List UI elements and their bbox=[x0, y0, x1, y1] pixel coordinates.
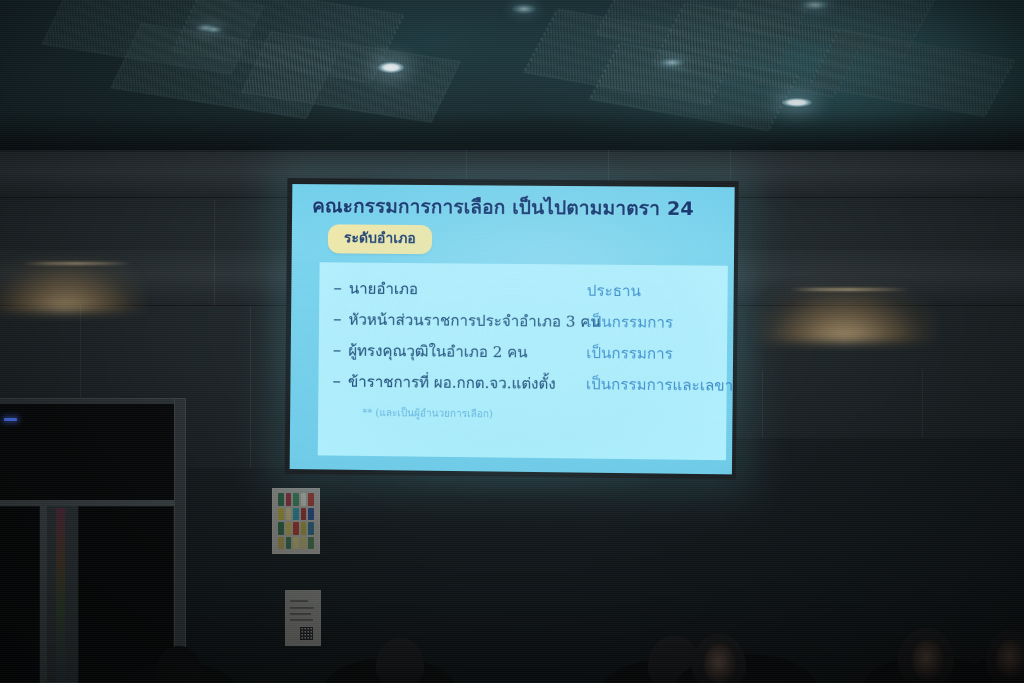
exit-door-leaf-left bbox=[0, 506, 40, 683]
wall-wash-glow-right bbox=[756, 284, 936, 342]
ceiling-downlight-icon bbox=[378, 62, 404, 73]
slide-row: – ข้าราชการที่ ผอ.กกต.จว.แต่งตั้ง เป็นกร… bbox=[332, 373, 718, 408]
wall-poster bbox=[272, 488, 320, 554]
exit-door-jamb bbox=[174, 398, 186, 683]
projection-screen-surface: คณะกรรมการการเลือก เป็นไปตามมาตรา 24 ระด… bbox=[290, 184, 735, 474]
audience-member-face bbox=[912, 640, 944, 680]
slide-title: คณะกรรมการการเลือก เป็นไปตามมาตรา 24 bbox=[312, 191, 724, 224]
slide-row-left: – ผู้ทรงคุณวุฒิในอำเภอ 2 คน bbox=[333, 342, 587, 362]
slide-level-badge: ระดับอำเภอ bbox=[328, 224, 432, 254]
ceiling-downlight-icon bbox=[660, 58, 684, 67]
sign-text-line bbox=[290, 600, 308, 602]
projection-screen: คณะกรรมการการเลือก เป็นไปตามมาตรา 24 ระด… bbox=[285, 178, 739, 479]
exit-door-transom-glass bbox=[0, 404, 174, 500]
poster-column bbox=[293, 493, 299, 549]
slide-row-left: – นายอำเภอ bbox=[333, 280, 587, 299]
poster-column bbox=[278, 493, 284, 549]
audience-member-face bbox=[996, 640, 1024, 678]
slide-row: – นายอำเภอ ประธาน bbox=[333, 280, 719, 315]
poster-column bbox=[301, 493, 307, 549]
wall-panel-seam bbox=[214, 200, 215, 306]
slide-row-role: เป็นกรรมการและเลขาฯ bbox=[586, 377, 735, 394]
presentation-slide: คณะกรรมการการเลือก เป็นไปตามมาตรา 24 ระด… bbox=[290, 184, 735, 474]
exit-indicator-led-icon bbox=[4, 418, 17, 421]
slide-row-role: เป็นกรรมการ bbox=[586, 315, 673, 331]
sign-qr-code-icon bbox=[300, 627, 313, 640]
bullet-dash-icon: – bbox=[332, 373, 341, 390]
wall-panel-seam bbox=[250, 306, 251, 486]
door-poster-strip bbox=[56, 508, 65, 680]
sign-text-line bbox=[290, 613, 311, 615]
slide-footnote: ** (และเป็นผู้อำนวยการเลือก) bbox=[362, 406, 718, 425]
slide-row-label: นายอำเภอ bbox=[349, 282, 418, 298]
slide-row-label: ข้าราชการที่ ผอ.กกต.จว.แต่งตั้ง bbox=[348, 375, 556, 392]
poster-column bbox=[308, 493, 314, 549]
poster-column bbox=[286, 493, 292, 549]
audience-member-face bbox=[704, 644, 736, 683]
slide-content-panel: – นายอำเภอ ประธาน – หัวหน้าส่วนราชการประ… bbox=[318, 262, 728, 460]
poster-color-grid bbox=[278, 493, 314, 549]
ceiling-downlight-icon bbox=[206, 26, 222, 33]
slide-row-role: เป็นกรรมการ bbox=[586, 346, 673, 362]
slide-row-label: ผู้ทรงคุณวุฒิในอำเภอ 2 คน bbox=[348, 344, 527, 361]
bullet-dash-icon: – bbox=[333, 342, 342, 359]
bullet-dash-icon: – bbox=[333, 280, 342, 297]
sign-text-line bbox=[290, 619, 313, 621]
sign-text-line bbox=[290, 607, 314, 609]
slide-row-label: หัวหน้าส่วนราชการประจำอำเภอ 3 คน bbox=[349, 313, 601, 330]
wall-sign bbox=[285, 590, 321, 646]
slide-row-role: ประธาน bbox=[587, 284, 641, 300]
wall-wash-glow-left bbox=[0, 258, 144, 312]
bullet-dash-icon: – bbox=[333, 311, 342, 328]
slide-row-left: – หัวหน้าส่วนราชการประจำอำเภอ 3 คน bbox=[333, 311, 587, 330]
ceiling-downlight-icon bbox=[782, 98, 812, 107]
exit-door-mullion bbox=[40, 506, 47, 683]
ceiling-downlight-icon bbox=[802, 0, 828, 10]
slide-row-left: – ข้าราชการที่ ผอ.กกต.จว.แต่งตั้ง bbox=[332, 373, 586, 393]
conference-room-scene: คณะกรรมการการเลือก เป็นไปตามมาตรา 24 ระด… bbox=[0, 0, 1024, 683]
ceiling-downlight-icon bbox=[512, 4, 536, 14]
